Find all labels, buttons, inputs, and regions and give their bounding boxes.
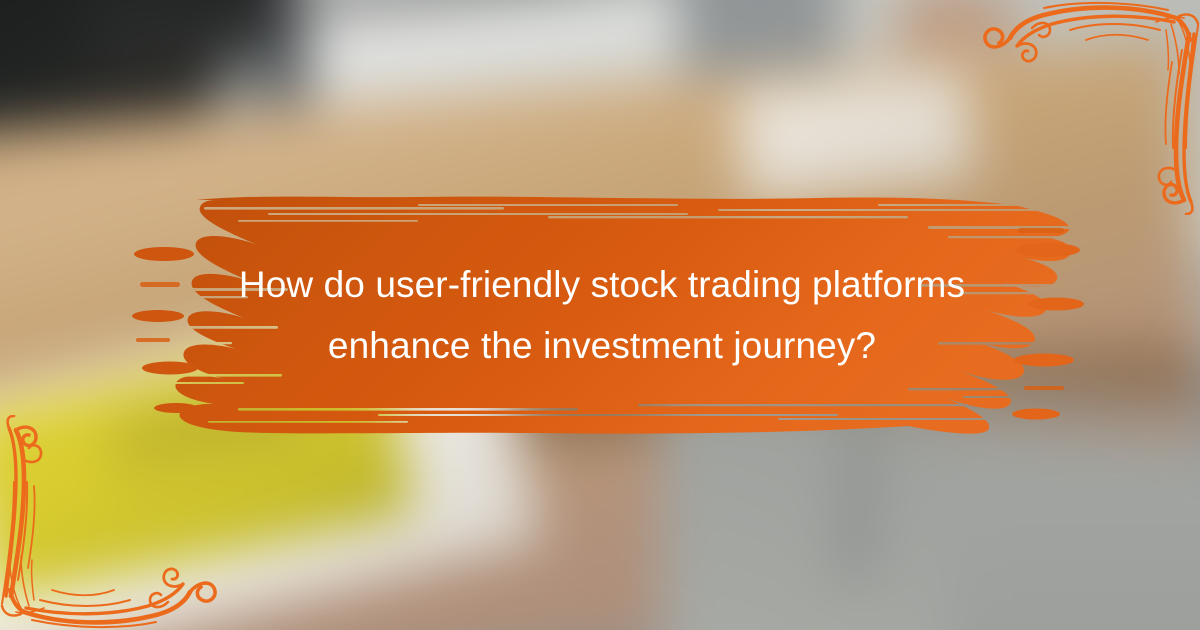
headline-line-1: How do user-friendly stock trading platf… xyxy=(239,259,965,312)
headline-text-block: How do user-friendly stock trading platf… xyxy=(150,198,1054,434)
background-floor-lower xyxy=(950,450,1200,630)
headline-line-2: enhance the investment journey? xyxy=(328,320,876,373)
social-share-card: How do user-friendly stock trading platf… xyxy=(0,0,1200,630)
